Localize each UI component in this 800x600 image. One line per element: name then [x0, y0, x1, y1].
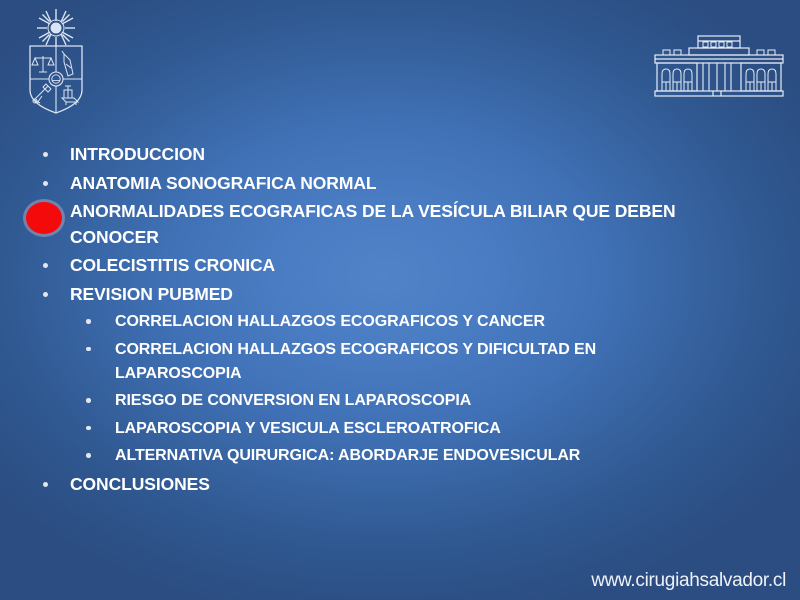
bullet-dot-icon — [43, 152, 48, 157]
list-item-highlighted[interactable]: ANORMALIDADES ECOGRAFICAS DE LA VESÍCULA… — [0, 199, 800, 250]
list-item[interactable]: RIESGO DE CONVERSION EN LAPAROSCOPIA — [0, 389, 800, 413]
bullet-dot-icon — [86, 347, 91, 352]
hospital-del-salvador-logo — [645, 30, 793, 100]
list-item-label: RIESGO DE CONVERSION EN LAPAROSCOPIA — [115, 392, 471, 409]
list-item-label: LAPAROSCOPIA Y VESICULA ESCLEROATROFICA — [115, 420, 501, 437]
list-item-label: ALTERNATIVA QUIRURGICA: ABORDARJE ENDOVE… — [115, 447, 580, 464]
bullet-dot-icon — [86, 453, 91, 458]
agenda-list: INTRODUCCION ANATOMIA SONOGRAFICA NORMAL… — [0, 142, 800, 500]
bullet-dot-icon — [43, 181, 48, 186]
universidad-de-chile-logo — [18, 4, 94, 116]
bullet-dot-icon — [43, 292, 48, 297]
list-item-label: ANORMALIDADES ECOGRAFICAS DE LA VESÍCULA… — [70, 201, 676, 247]
list-item-label: CORRELACION HALLAZGOS ECOGRAFICOS Y DIFI… — [115, 341, 596, 382]
footer-website-url: www.cirugiahsalvador.cl — [591, 570, 786, 592]
bullet-dot-icon — [43, 263, 48, 268]
list-item-label: ANATOMIA SONOGRAFICA NORMAL — [70, 173, 376, 193]
list-item[interactable]: INTRODUCCION — [0, 142, 800, 168]
bullet-dot-icon — [86, 426, 91, 431]
list-item[interactable]: CONCLUSIONES — [0, 472, 800, 498]
list-item[interactable]: REVISION PUBMED — [0, 282, 800, 308]
red-circle-highlight-icon — [26, 202, 62, 234]
bullet-dot-icon — [86, 319, 91, 324]
list-item[interactable]: ANATOMIA SONOGRAFICA NORMAL — [0, 171, 800, 197]
list-item[interactable]: CORRELACION HALLAZGOS ECOGRAFICOS Y CANC… — [0, 310, 800, 334]
list-item-label: REVISION PUBMED — [70, 284, 233, 304]
presentation-slide: INTRODUCCION ANATOMIA SONOGRAFICA NORMAL… — [0, 0, 800, 600]
list-item[interactable]: ALTERNATIVA QUIRURGICA: ABORDARJE ENDOVE… — [0, 444, 800, 468]
list-item-label: CORRELACION HALLAZGOS ECOGRAFICOS Y CANC… — [115, 313, 545, 330]
list-item[interactable]: COLECISTITIS CRONICA — [0, 253, 800, 279]
list-item-label: CONCLUSIONES — [70, 474, 210, 494]
bullet-dot-icon — [86, 398, 91, 403]
bullet-dot-icon — [43, 482, 48, 487]
list-item[interactable]: CORRELACION HALLAZGOS ECOGRAFICOS Y DIFI… — [0, 338, 800, 386]
list-item-label: INTRODUCCION — [70, 144, 205, 164]
list-item[interactable]: LAPAROSCOPIA Y VESICULA ESCLEROATROFICA — [0, 417, 800, 441]
list-item-label: COLECISTITIS CRONICA — [70, 255, 275, 275]
